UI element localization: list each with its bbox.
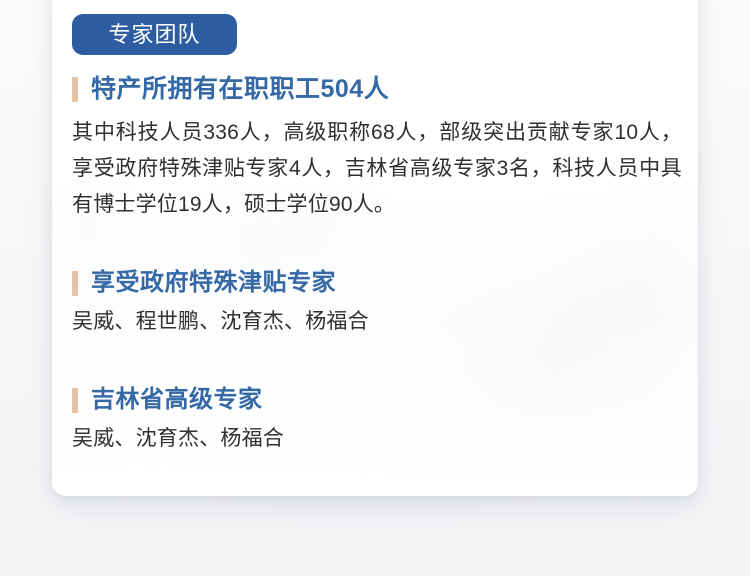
accent-bar-icon (72, 271, 78, 296)
accent-bar-icon (72, 77, 78, 102)
section-heading: 吉林省高级专家 (91, 385, 263, 415)
accent-bar-icon (72, 388, 78, 413)
section-name-list: 吴威、程世鹏、沈育杰、杨福合 (72, 307, 684, 337)
section-staff-overview: 特产所拥有在职职工504人 其中科技人员336人，高级职称68人，部级突出贡献专… (72, 74, 684, 244)
heading-row: 吉林省高级专家 (72, 385, 684, 415)
heading-row: 特产所拥有在职职工504人 (72, 74, 684, 104)
section-heading: 享受政府特殊津贴专家 (91, 268, 336, 298)
section-badge-expert-team[interactable]: 专家团队 (72, 14, 237, 55)
section-jilin-senior-experts: 吉林省高级专家 吴威、沈育杰、杨福合 (72, 385, 684, 475)
heading-row: 享受政府特殊津贴专家 (72, 268, 684, 298)
expert-team-card: 专家团队 特产所拥有在职职工504人 其中科技人员336人，高级职称68人，部级… (52, 0, 698, 496)
section-heading: 特产所拥有在职职工504人 (91, 74, 389, 104)
page-canvas: 专家团队 特产所拥有在职职工504人 其中科技人员336人，高级职称68人，部级… (0, 0, 750, 576)
section-government-allowance-experts: 享受政府特殊津贴专家 吴威、程世鹏、沈育杰、杨福合 (72, 268, 684, 358)
section-body-text: 其中科技人员336人，高级职称68人，部级突出贡献专家10人，享受政府特殊津贴专… (72, 115, 682, 223)
section-name-list: 吴威、沈育杰、杨福合 (72, 424, 684, 454)
